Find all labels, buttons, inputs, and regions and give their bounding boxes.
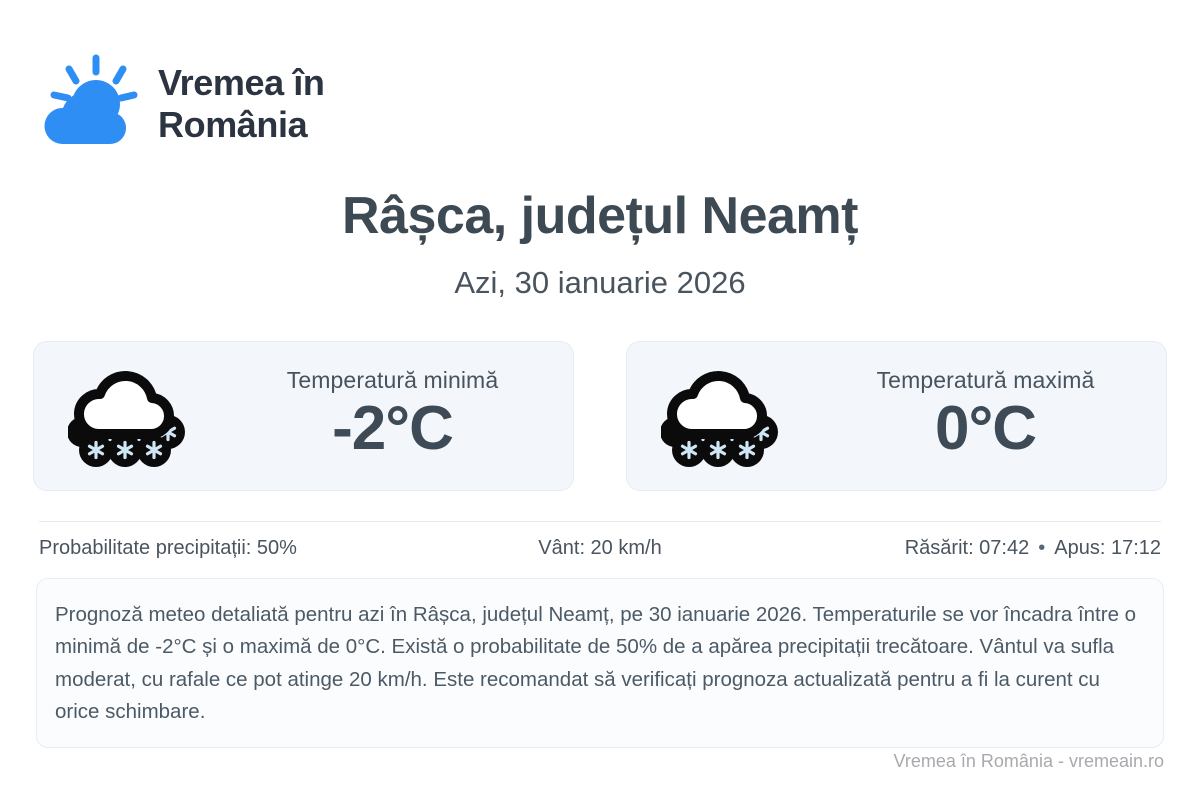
temperature-min-label: Temperatură minimă — [287, 367, 498, 394]
wind-speed: Vânt: 20 km/h — [413, 537, 787, 560]
weather-page: Vremea în România Râșca, județul Neamț A… — [0, 0, 1200, 800]
temperature-cards: Temperatură minimă -2°C — [33, 341, 1167, 491]
page-subtitle-date: Azi, 30 ianuarie 2026 — [0, 265, 1200, 301]
temperature-min-body: Temperatură minimă -2°C — [222, 367, 563, 461]
divider — [39, 521, 1161, 522]
temperature-min-value: -2°C — [332, 396, 453, 461]
sun-behind-cloud-icon — [36, 52, 140, 156]
sun-times-separator: • — [1029, 537, 1054, 559]
card-temperature-max: Temperatură maximă 0°C — [626, 341, 1167, 491]
sunset-time: Apus: 17:12 — [1054, 537, 1161, 559]
page-title: Râșca, județul Neamț — [0, 186, 1200, 246]
footer-attribution: Vremea în România - vremeain.ro — [894, 751, 1164, 772]
temperature-max-label: Temperatură maximă — [877, 367, 1095, 394]
forecast-description: Prognoză meteo detaliată pentru azi în R… — [36, 578, 1164, 748]
temperature-max-body: Temperatură maximă 0°C — [815, 367, 1156, 461]
temperature-max-value: 0°C — [935, 396, 1036, 461]
snow-cloud-icon — [68, 362, 196, 470]
precipitation-probability: Probabilitate precipitații: 50% — [39, 537, 413, 560]
brand-name: Vremea în România — [158, 62, 325, 146]
sunrise-time: Răsărit: 07:42 — [905, 537, 1030, 559]
brand-logo[interactable]: Vremea în România — [36, 52, 325, 156]
sun-times: Răsărit: 07:42•Apus: 17:12 — [787, 537, 1161, 560]
snow-cloud-icon — [661, 362, 789, 470]
weather-details-row: Probabilitate precipitații: 50% Vânt: 20… — [39, 537, 1161, 560]
card-temperature-min: Temperatură minimă -2°C — [33, 341, 574, 491]
